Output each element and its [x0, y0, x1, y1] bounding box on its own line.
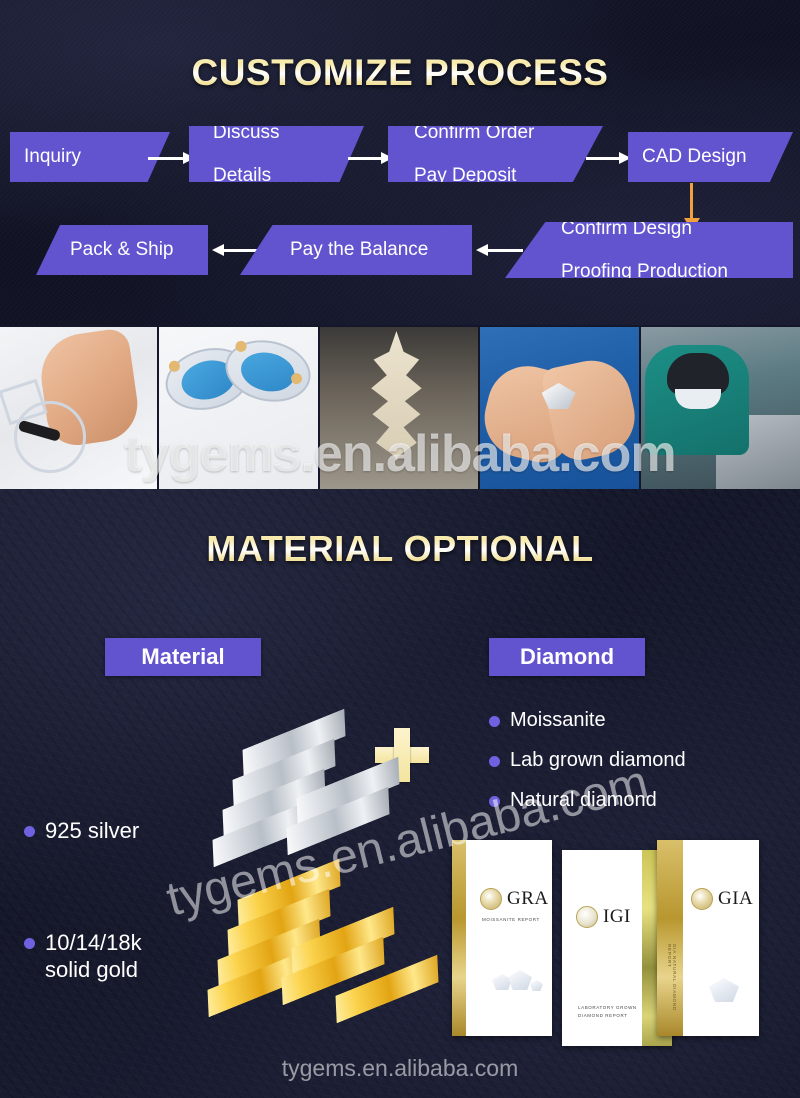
jeweller-icon	[645, 345, 749, 455]
igi-seal-icon	[576, 906, 598, 928]
certificate-igi-subtitle: LABORATORY GROWN DIAMOND REPORT	[578, 1004, 637, 1019]
flow-box-confirm-design-label: Confirm Design Proofing Production	[561, 218, 793, 283]
list-item-925-silver-label: 925 silver	[45, 818, 139, 845]
flow-arrow-2	[348, 157, 382, 160]
header-chip-diamond-label: Diamond	[520, 644, 614, 670]
certificate-gold-spine	[452, 840, 466, 1036]
bullet-icon	[489, 796, 500, 807]
flow-box-discuss-details[interactable]: Discuss Details	[189, 126, 364, 182]
header-chip-material-label: Material	[141, 644, 224, 670]
page-root: CUSTOMIZE PROCESS Inquiry Discuss Detail…	[0, 0, 800, 1098]
flow-arrow-1	[148, 157, 184, 160]
certificate-gia-name: GIA	[718, 888, 753, 910]
flow-box-inquiry[interactable]: Inquiry	[10, 132, 170, 182]
page-title-customize-process: CUSTOMIZE PROCESS	[0, 52, 800, 94]
photo-cad-render	[159, 327, 318, 489]
flow-arrow-3	[586, 157, 620, 160]
flow-box-discuss-details-label: Discuss Details	[213, 122, 364, 187]
ring-sketch-icon	[14, 401, 86, 473]
igi-logo: IGI	[576, 906, 631, 928]
certificate-igi: IGI LABORATORY GROWN DIAMOND REPORT	[562, 850, 672, 1046]
certificate-gra-subtitle: MOISSANITE REPORT	[482, 916, 540, 924]
list-item-925-silver: 925 silver	[24, 818, 139, 845]
list-item-solid-gold: 10/14/18k solid gold	[24, 930, 142, 984]
photo-polishing-bench	[641, 327, 800, 489]
certificate-gia-gem-icon	[709, 978, 739, 1002]
certificate-igi-name: IGI	[603, 906, 631, 928]
gia-logo: GIA	[691, 888, 753, 910]
gia-seal-icon	[691, 888, 713, 910]
page-title-material-optional: MATERIAL OPTIONAL	[0, 528, 800, 570]
flow-arrow-orange-down	[690, 183, 693, 219]
flow-box-pay-balance[interactable]: Pay the Balance	[240, 225, 472, 275]
header-chip-diamond[interactable]: Diamond	[489, 638, 645, 676]
certificate-gra-name: GRA	[507, 888, 549, 910]
flow-box-pack-ship-label: Pack & Ship	[70, 239, 208, 261]
flow-box-confirm-order[interactable]: Confirm Order Pay Deposit	[388, 126, 603, 182]
list-item-lab-grown-diamond-label: Lab grown diamond	[510, 748, 686, 772]
list-item-solid-gold-label: 10/14/18k solid gold	[45, 930, 142, 984]
certificate-gra-gem-icon	[508, 970, 532, 990]
photo-stone-setting	[480, 327, 639, 489]
flow-arrow-4	[223, 249, 259, 252]
certificate-gra: GRA MOISSANITE REPORT	[452, 840, 552, 1036]
flow-box-confirm-design[interactable]: Confirm Design Proofing Production	[505, 222, 793, 278]
gra-logo: GRA	[480, 888, 549, 910]
flow-box-confirm-order-label: Confirm Order Pay Deposit	[414, 122, 603, 187]
wax-tree-icon	[366, 331, 426, 461]
header-chip-material[interactable]: Material	[105, 638, 261, 676]
process-photo-strip	[0, 327, 800, 489]
flow-box-pack-ship[interactable]: Pack & Ship	[36, 225, 208, 275]
face-mask-icon	[667, 353, 729, 395]
list-item-natural-diamond-label: Natural diamond	[510, 788, 657, 812]
photo-ring-sketch	[0, 327, 157, 489]
list-item-moissanite: Moissanite	[489, 708, 606, 732]
bullet-icon	[24, 826, 35, 837]
flow-box-cad-design[interactable]: CAD Design	[628, 132, 793, 182]
list-item-lab-grown-diamond: Lab grown diamond	[489, 748, 686, 772]
list-item-moissanite-label: Moissanite	[510, 708, 606, 732]
bullet-icon	[489, 756, 500, 767]
certificate-gra-gem-icon	[492, 974, 512, 990]
certificate-gra-gem-icon	[530, 980, 543, 991]
flow-box-pay-balance-label: Pay the Balance	[290, 239, 472, 261]
bullet-icon	[489, 716, 500, 727]
certificate-gia: GIA NATURAL DIAMOND REPORT GIA	[657, 840, 759, 1036]
bullet-icon	[24, 938, 35, 949]
flow-arrow-5	[487, 249, 523, 252]
list-item-natural-diamond: Natural diamond	[489, 788, 657, 812]
certificate-gia-vertical-text: GIA NATURAL DIAMOND REPORT	[667, 944, 677, 1036]
gra-seal-icon	[480, 888, 502, 910]
flow-box-cad-design-label: CAD Design	[642, 146, 793, 168]
photo-wax-tree	[320, 327, 477, 489]
